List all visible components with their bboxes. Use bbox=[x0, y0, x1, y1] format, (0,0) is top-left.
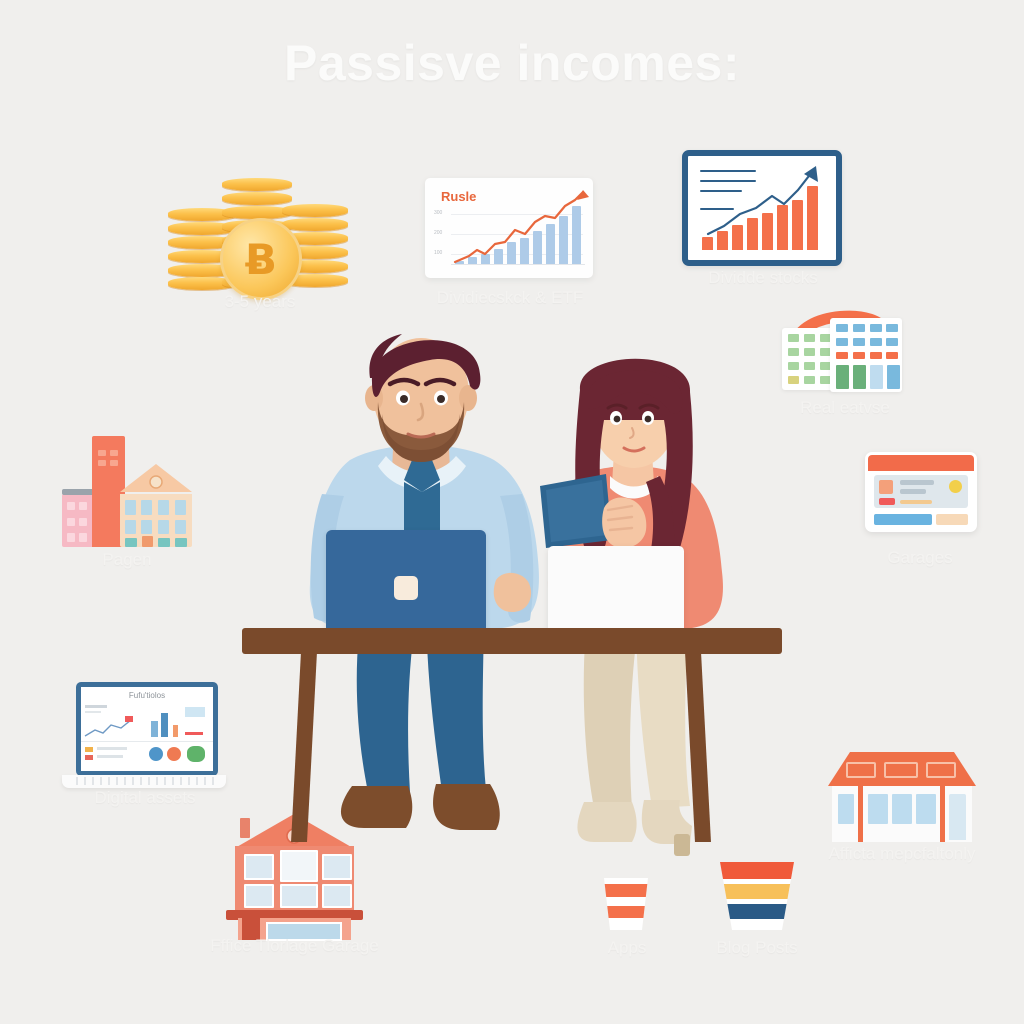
caption-dividend-stocks: Dividde stocks bbox=[708, 268, 818, 288]
building-right bbox=[830, 318, 902, 392]
blue-laptop-logo bbox=[394, 576, 418, 600]
pagen-classical-building bbox=[120, 468, 192, 547]
caption-digital-assets: Digital assets bbox=[94, 788, 195, 808]
icon-dividend-stocks[interactable]: Dividde stocks bbox=[682, 150, 844, 290]
caption-blog-posts: Blog Posts bbox=[716, 938, 797, 958]
dividend-trend-arrow bbox=[688, 156, 836, 260]
dashboard-footer-left bbox=[874, 514, 932, 525]
blue-laptop[interactable] bbox=[326, 530, 486, 636]
bitcoin-icon: Ƀ bbox=[220, 218, 302, 300]
laptop-keyboard-base bbox=[62, 775, 226, 788]
icon-etf-chart[interactable]: Rusle 300 200 100 Dividiecskc bbox=[425, 178, 595, 308]
icon-digital-assets[interactable]: Fufu'tiolos bbox=[62, 682, 228, 822]
desk-top bbox=[242, 628, 782, 654]
woman-hand bbox=[598, 488, 658, 554]
white-laptop[interactable] bbox=[548, 546, 684, 636]
icon-real-estate[interactable]: Real eatvse bbox=[780, 300, 910, 420]
icon-coins[interactable]: Ƀ 3-5 years bbox=[160, 170, 360, 320]
bitcoin-symbol: Ƀ bbox=[245, 235, 277, 284]
icon-pagen[interactable]: Pagen bbox=[62, 432, 192, 572]
caption-apps: Apps bbox=[608, 938, 647, 958]
dashboard-header bbox=[868, 455, 974, 471]
garages-dashboard-card bbox=[865, 452, 977, 532]
etf-trend-line bbox=[425, 178, 593, 278]
laptop-screen: Fufu'tiolos bbox=[76, 682, 218, 776]
caption-real-estate: Real eatvse bbox=[800, 398, 890, 418]
caption-affiliate: Afficta mepcfaltonly bbox=[828, 844, 975, 864]
icon-garages[interactable]: Garages bbox=[865, 452, 975, 582]
icon-affiliate[interactable]: Afficta mepcfaltonly bbox=[828, 752, 976, 872]
infographic-canvas: Passisve incomes: bbox=[0, 0, 1024, 1024]
etf-chart-card: Rusle 300 200 100 bbox=[425, 178, 593, 278]
caption-pagen: Pagen bbox=[102, 550, 151, 570]
caption-coins: 3-5 years bbox=[225, 292, 296, 312]
laptop-screen-title: Fufu'tiolos bbox=[81, 687, 213, 704]
page-title: Passisve incomes: bbox=[0, 34, 1024, 92]
caption-etf-chart: Dividiecskck & ETF bbox=[437, 288, 583, 308]
caption-garages: Garages bbox=[887, 548, 952, 568]
dashboard-footer-right bbox=[936, 514, 968, 525]
dashboard-body bbox=[874, 475, 968, 508]
caption-storage-garage: Fffice Tlorlage Garage bbox=[210, 936, 379, 956]
dividend-chart-frame bbox=[682, 150, 842, 266]
